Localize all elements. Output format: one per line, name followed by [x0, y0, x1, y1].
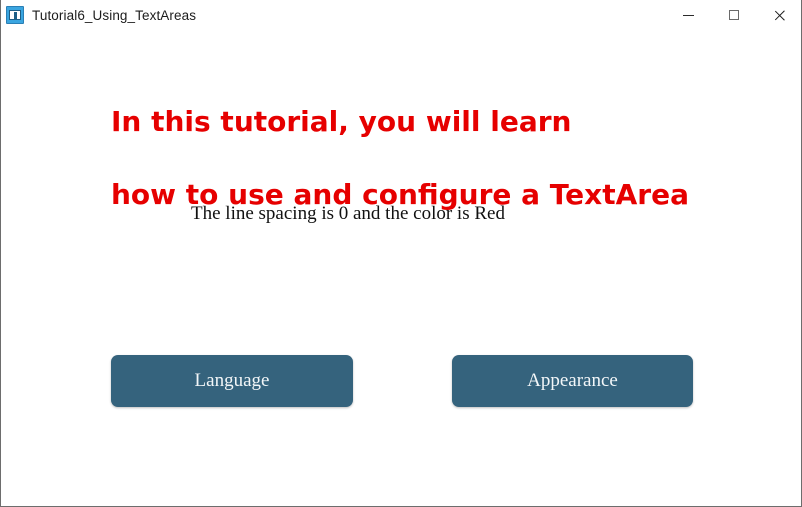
maximize-icon: [729, 10, 739, 20]
line-spacing-note: The line spacing is 0 and the color is R…: [191, 204, 505, 223]
appearance-button[interactable]: Appearance: [452, 355, 693, 407]
minimize-icon: [683, 15, 694, 16]
title-bar[interactable]: Tutorial6_Using_TextAreas: [1, 0, 802, 30]
close-button[interactable]: [757, 0, 802, 30]
window-controls: [665, 0, 802, 30]
close-icon: [774, 9, 787, 22]
window-title: Tutorial6_Using_TextAreas: [32, 8, 196, 23]
maximize-button[interactable]: [711, 0, 757, 30]
content-area: In this tutorial, you will learn how to …: [1, 30, 801, 506]
language-button[interactable]: Language: [111, 355, 353, 407]
tutorial-text-line-1: In this tutorial, you will learn: [111, 108, 571, 136]
application-window: Tutorial6_Using_TextAreas In this tutori…: [0, 0, 802, 507]
minimize-button[interactable]: [665, 0, 711, 30]
app-window-icon: [6, 6, 24, 24]
